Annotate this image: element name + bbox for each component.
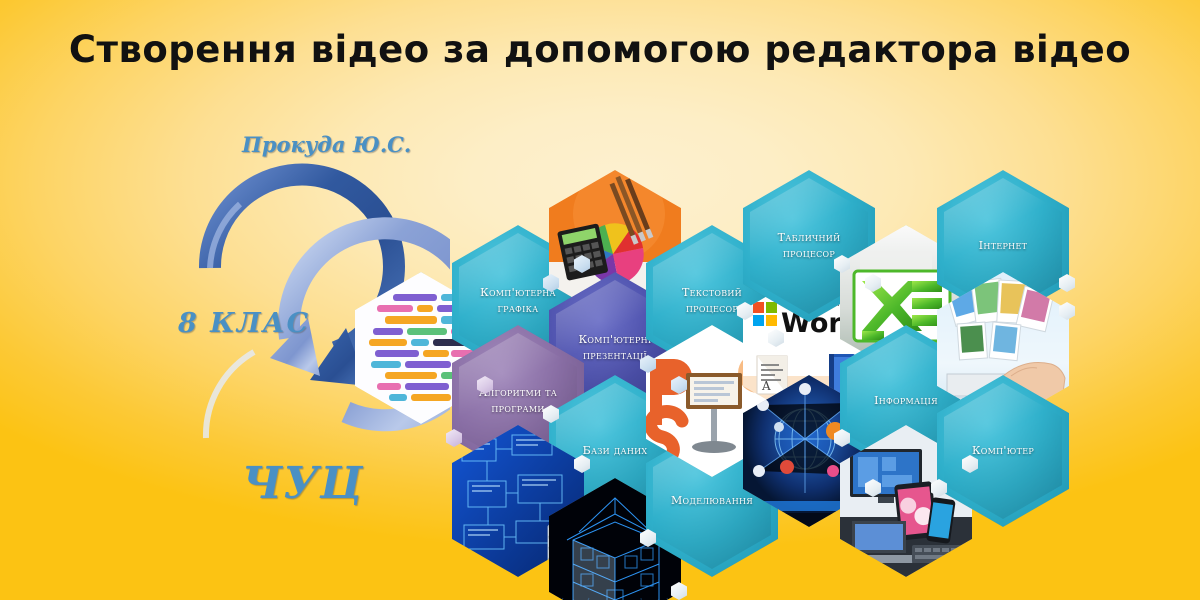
hexagon-label: Інтернет: [951, 238, 1055, 254]
slide-canvas: Створення відео за допомогою редактора в…: [0, 0, 1200, 600]
hexagon-label: Моделювання: [660, 493, 764, 509]
hexagon-grid: Комп'ютерна графіка: [0, 0, 1200, 600]
hexagon-label: Бази даних: [563, 443, 667, 459]
hexagon-label: Комп'ютер: [951, 443, 1055, 459]
hexagon-label: Інформація: [854, 393, 958, 409]
svg-text:A: A: [761, 379, 771, 393]
